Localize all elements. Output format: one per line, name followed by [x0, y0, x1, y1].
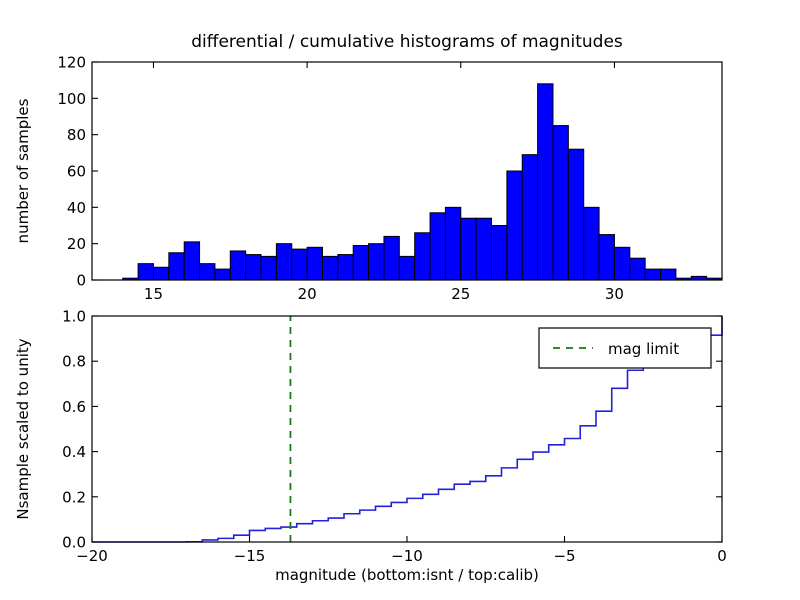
x-tick-label: −15 — [234, 547, 266, 565]
y-tick-label: 60 — [67, 163, 86, 181]
matplotlib-figure: differential / cumulative histograms of … — [0, 0, 800, 600]
y-tick-label: 120 — [57, 54, 86, 72]
x-tick-label: −10 — [391, 547, 423, 565]
histogram-bar — [630, 258, 645, 280]
histogram-bar — [169, 253, 184, 280]
y-tick-label: 0.6 — [62, 398, 86, 416]
top-panel-ylabel: number of samples — [14, 98, 32, 243]
y-tick-label: 0.4 — [62, 443, 86, 461]
histogram-bar — [184, 242, 199, 280]
figure-background — [0, 0, 800, 600]
y-tick-label: 0.2 — [62, 488, 86, 506]
histogram-bar — [645, 269, 660, 280]
histogram-bar — [492, 226, 507, 281]
figure-xlabel: magnitude (bottom:isnt / top:calib) — [275, 566, 539, 584]
legend[interactable]: mag limit — [539, 328, 711, 368]
figure-title: differential / cumulative histograms of … — [191, 32, 623, 52]
x-tick-label: −20 — [76, 547, 108, 565]
histogram-bar — [322, 256, 337, 280]
legend-label-mag-limit: mag limit — [608, 340, 679, 358]
y-tick-label: 80 — [67, 126, 86, 144]
y-tick-label: 0 — [76, 272, 86, 290]
x-tick-label: 25 — [451, 285, 470, 303]
histogram-bar — [553, 126, 568, 280]
histogram-bar — [430, 213, 445, 280]
histogram-bar — [215, 269, 230, 280]
x-tick-label: 20 — [298, 285, 317, 303]
histogram-bar — [292, 249, 307, 280]
histogram-bar — [307, 247, 322, 280]
histogram-bar — [246, 255, 261, 280]
histogram-bar — [353, 245, 368, 280]
histogram-bar — [599, 235, 614, 280]
histogram-bar — [461, 218, 476, 280]
histogram-bar — [415, 233, 430, 280]
histogram-bar — [538, 84, 553, 280]
histogram-bar — [568, 149, 583, 280]
x-tick-label: 30 — [605, 285, 624, 303]
histogram-bar — [230, 251, 245, 280]
y-tick-label: 1.0 — [62, 308, 86, 326]
histogram-bar — [399, 256, 414, 280]
histogram-bar — [522, 155, 537, 280]
histogram-bar — [384, 236, 399, 280]
histogram-bar — [261, 256, 276, 280]
x-tick-label: −5 — [553, 547, 575, 565]
histogram-bar — [507, 171, 522, 280]
histogram-bar — [153, 267, 168, 280]
y-tick-label: 0.8 — [62, 353, 86, 371]
y-tick-label: 40 — [67, 199, 86, 217]
histogram-bar — [200, 264, 215, 280]
histogram-bar — [138, 264, 153, 280]
histogram-bar — [369, 244, 384, 280]
x-tick-label: 0 — [717, 547, 727, 565]
x-tick-label: 15 — [144, 285, 163, 303]
figure-canvas: differential / cumulative histograms of … — [0, 0, 800, 600]
histogram-bar — [476, 218, 491, 280]
histogram-bar — [338, 255, 353, 280]
histogram-bar — [614, 247, 629, 280]
histogram-bar — [445, 207, 460, 280]
y-tick-label: 20 — [67, 235, 86, 253]
histogram-bar — [661, 269, 676, 280]
histogram-bar — [584, 207, 599, 280]
histogram-bar — [276, 244, 291, 280]
y-tick-label: 100 — [57, 90, 86, 108]
bottom-panel-ylabel: Nsample scaled to unity — [14, 338, 32, 519]
